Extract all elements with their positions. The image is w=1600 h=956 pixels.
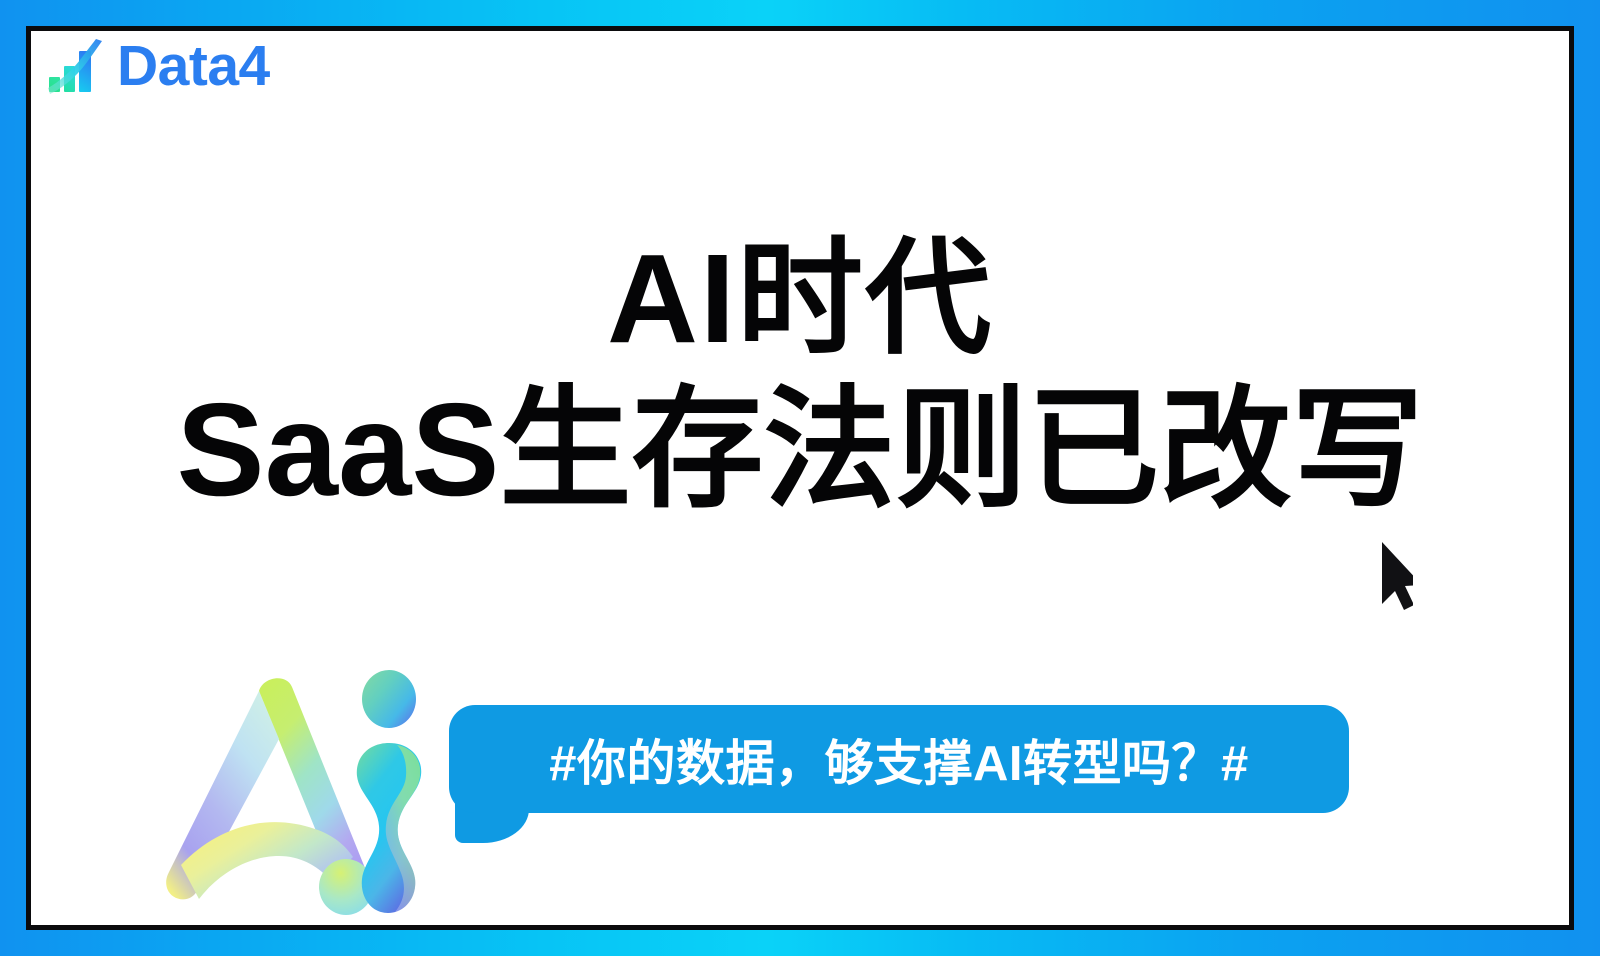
page-title: AI时代 SaaS生存法则已改写 [31,236,1569,516]
mouse-pointer-arrow-icon [1349,523,1413,617]
bar-chart-growth-icon [47,38,105,94]
headline-line-1: AI时代 [31,236,1569,362]
hashtag-speech-bubble: #你的数据，够支撑AI转型吗？# [449,705,1349,813]
headline-line-2: SaaS生存法则已改写 [31,384,1569,516]
poster-canvas: Data4 AI时代 SaaS生存法则已改写 [0,0,1600,956]
speech-bubble-text: #你的数据，够支撑AI转型吗？# [449,705,1349,813]
brand-lockup: Data4 [47,37,270,94]
brand-name: Data4 [117,38,270,95]
poster-card: Data4 AI时代 SaaS生存法则已改写 [26,26,1574,930]
ai-gradient-letters-icon [149,647,439,919]
bottom-band: #你的数据，够支撑AI转型吗？# [31,625,1569,925]
